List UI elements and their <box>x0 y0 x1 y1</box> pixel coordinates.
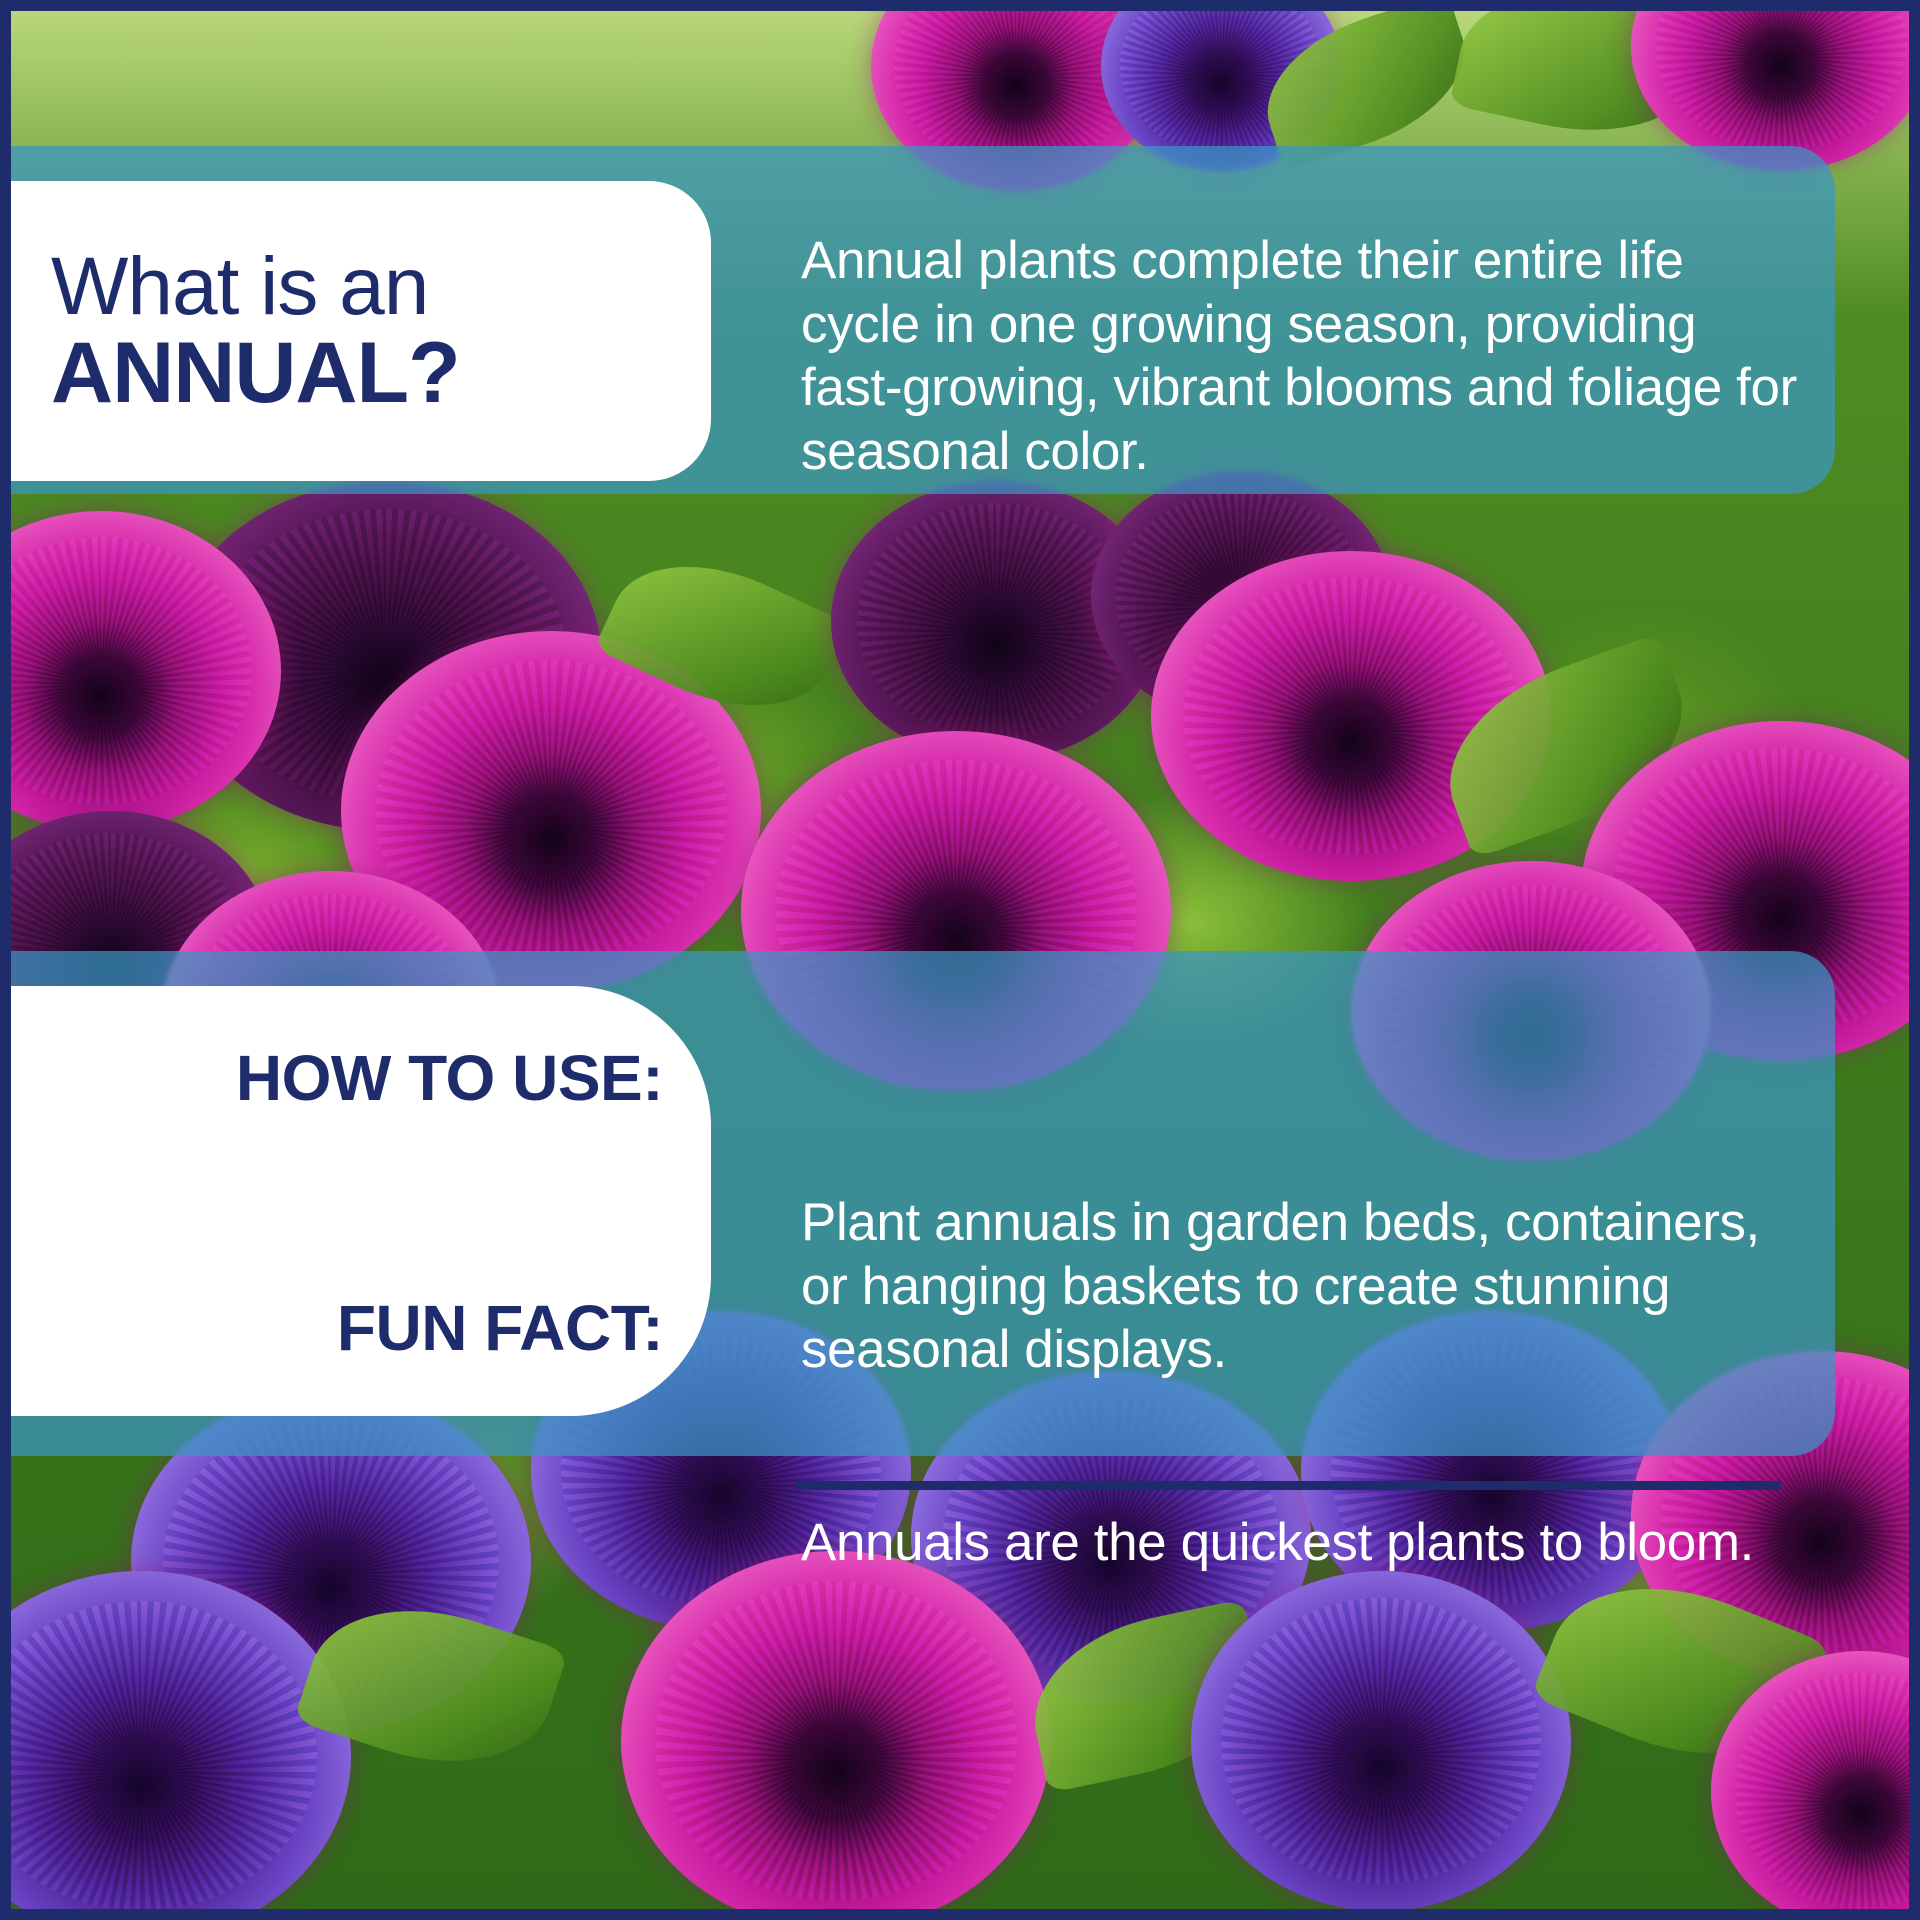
page-title-line1: What is an <box>51 244 681 329</box>
page-title-line2: ANNUAL? <box>51 329 681 418</box>
fun-fact-label: FUN FACT: <box>11 1296 663 1360</box>
infographic-root: What is an ANNUAL? Annual plants complet… <box>0 0 1920 1920</box>
section-divider <box>795 1481 1781 1490</box>
photo-bloom <box>1191 1571 1571 1909</box>
how-to-use-text: Plant annuals in garden beds, containers… <box>801 1191 1811 1382</box>
title-card: What is an ANNUAL? <box>11 181 711 481</box>
intro-text: Annual plants complete their entire life… <box>801 229 1811 483</box>
fun-fact-text: Annuals are the quickest plants to bloom… <box>801 1511 1811 1575</box>
labels-card: HOW TO USE: FUN FACT: <box>11 986 711 1416</box>
infographic-inner-frame: What is an ANNUAL? Annual plants complet… <box>11 11 1909 1909</box>
how-to-use-label: HOW TO USE: <box>11 1046 663 1110</box>
photo-bloom <box>621 1551 1051 1909</box>
